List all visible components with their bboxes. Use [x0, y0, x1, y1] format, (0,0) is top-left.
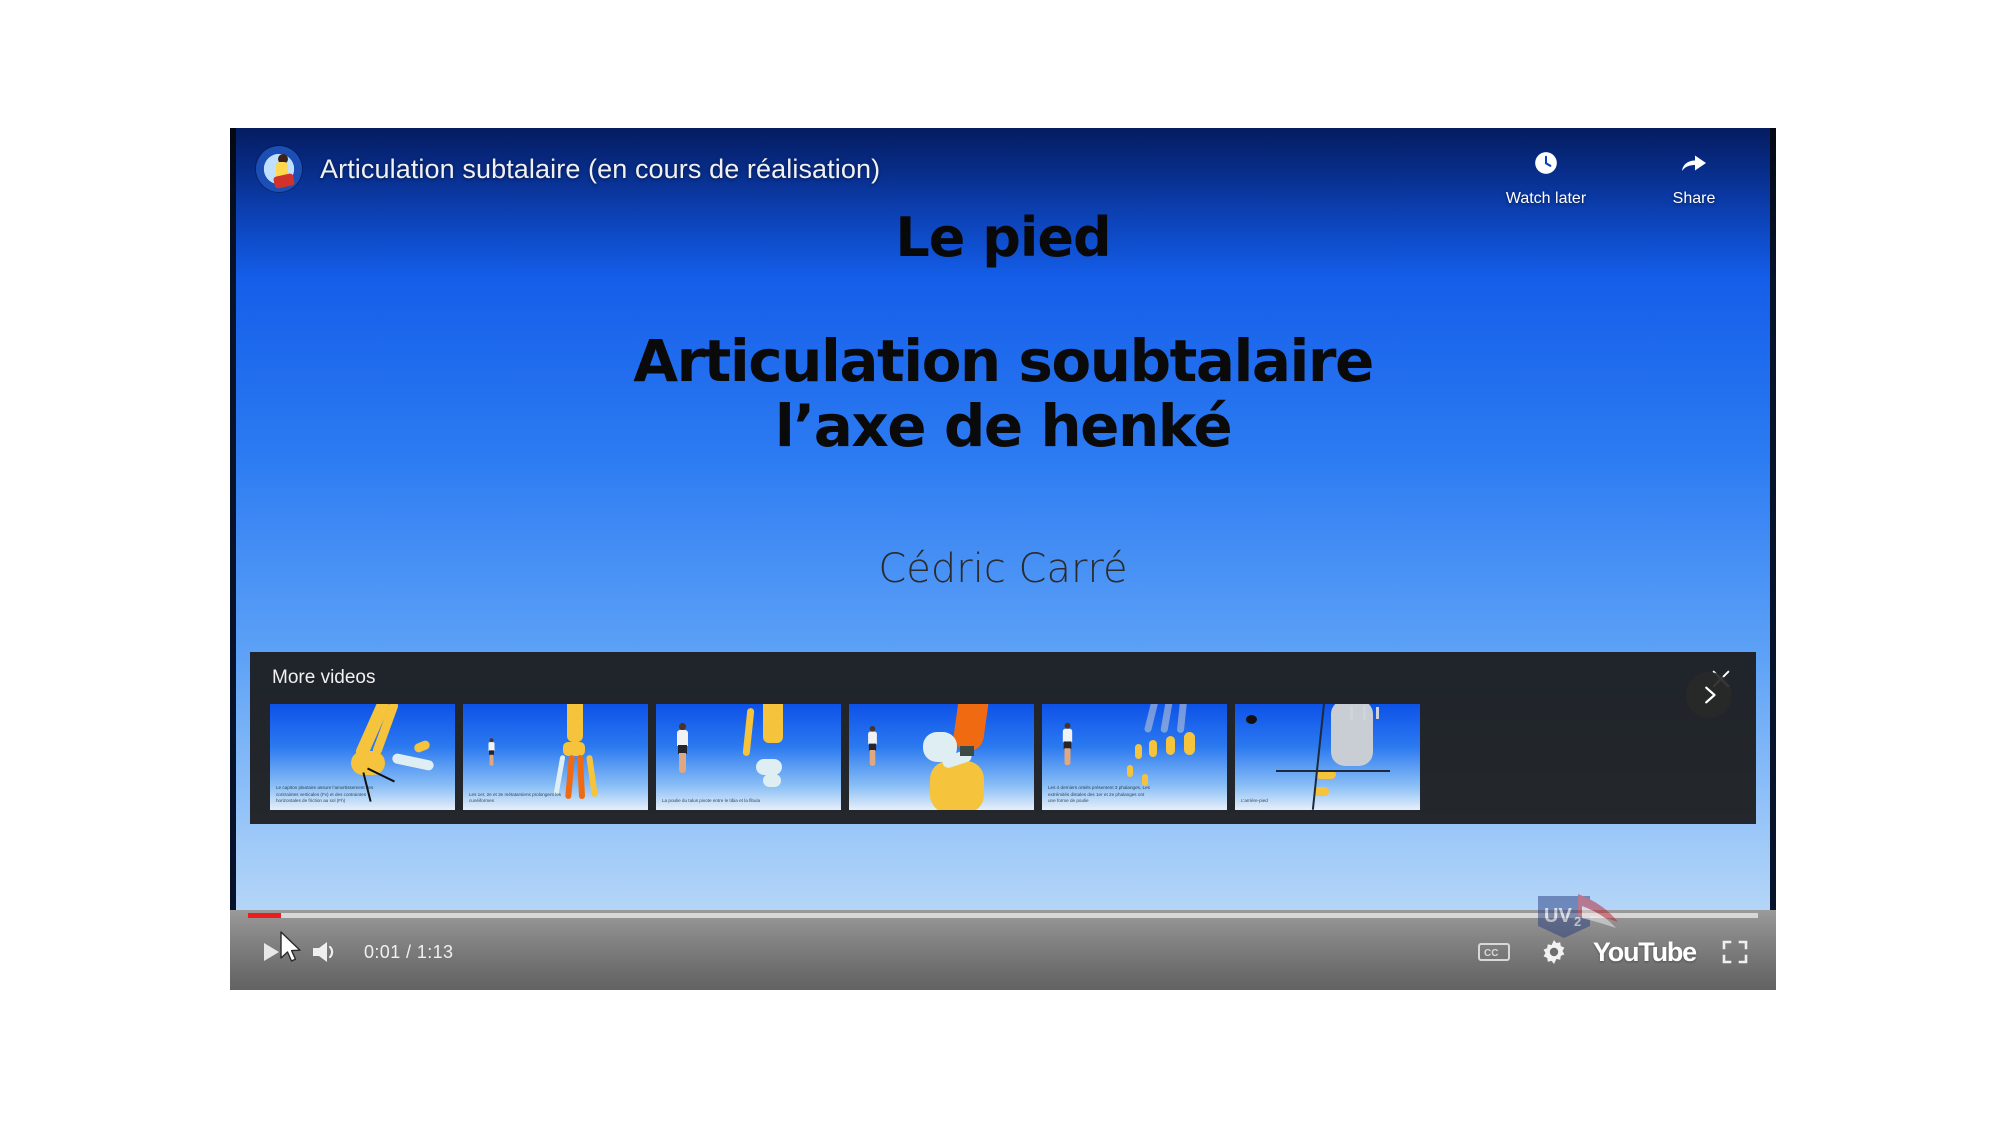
controls-left-group: 0:01 / 1:13 — [246, 932, 453, 972]
video-stage[interactable]: Le pied Articulation soubtalaire l’axe d… — [230, 128, 1776, 990]
watch-later-button[interactable]: Watch later — [1500, 146, 1592, 208]
play-pause-button[interactable] — [246, 932, 296, 972]
list-item[interactable]: L’arrière-pied — [1235, 704, 1420, 810]
svg-text:UV: UV — [1544, 905, 1572, 927]
thumbnail-caption: La poulie du talus pivote entre le tibia… — [662, 798, 767, 805]
thumbnail-caption: L’arrière-pied — [1241, 798, 1318, 805]
svg-text:CC: CC — [1484, 948, 1498, 959]
video-title[interactable]: Articulation subtalaire (en cours de réa… — [320, 146, 880, 192]
more-videos-header: More videos — [250, 652, 1756, 704]
channel-avatar-icon[interactable] — [256, 146, 302, 192]
chevron-right-icon[interactable] — [1686, 672, 1732, 718]
fullscreen-icon[interactable] — [1710, 932, 1760, 972]
slide-line-3: l’axe de henké — [230, 394, 1776, 459]
youtube-player[interactable]: Le pied Articulation soubtalaire l’axe d… — [230, 128, 1776, 990]
more-videos-panel[interactable]: More videos Le capiton plantaire as — [250, 652, 1756, 824]
list-item[interactable]: Les 4 derniers orteils présentent 3 phal… — [1042, 704, 1227, 810]
subtitles-cc-button[interactable]: CC — [1469, 932, 1519, 972]
list-item[interactable]: Les 1er, 2e et 3e métatarsiens prolongen… — [463, 704, 648, 810]
more-videos-title: More videos — [272, 667, 376, 689]
thumbnail-caption: Les 1er, 2e et 3e métatarsiens prolongen… — [469, 792, 574, 805]
list-item[interactable]: La poulie du talus pivote entre le tibia… — [656, 704, 841, 810]
watch-later-label: Watch later — [1506, 190, 1586, 208]
figure-icon — [676, 723, 689, 773]
more-videos-thumbnail-strip[interactable]: Le capiton plantaire assure l’amortissem… — [250, 704, 1756, 816]
figure-icon — [488, 739, 495, 767]
list-item[interactable] — [849, 704, 1034, 810]
volume-on-icon[interactable] — [300, 932, 350, 972]
thumbnail-caption: Les 4 derniers orteils présentent 3 phal… — [1048, 785, 1153, 805]
slide-line-2: Articulation soubtalaire — [230, 329, 1776, 394]
progress-bar-track[interactable] — [248, 913, 1758, 918]
list-item[interactable]: Le capiton plantaire assure l’amortissem… — [270, 704, 455, 810]
time-display: 0:01 / 1:13 — [364, 942, 453, 963]
svg-text:2: 2 — [1574, 914, 1581, 929]
thumbnail-caption: Le capiton plantaire assure l’amortissem… — [276, 785, 381, 805]
top-action-buttons: Watch later Share — [1500, 146, 1740, 208]
figure-icon — [1061, 723, 1072, 766]
share-button[interactable]: Share — [1648, 146, 1740, 208]
progress-bar-played — [248, 913, 281, 918]
share-label: Share — [1673, 190, 1716, 208]
share-arrow-icon — [1680, 146, 1708, 180]
figure-icon — [867, 726, 877, 766]
channel-watermark[interactable]: UV 2 — [1534, 890, 1626, 946]
clock-icon — [1533, 146, 1559, 180]
slide-author: Cédric Carré — [230, 546, 1776, 592]
